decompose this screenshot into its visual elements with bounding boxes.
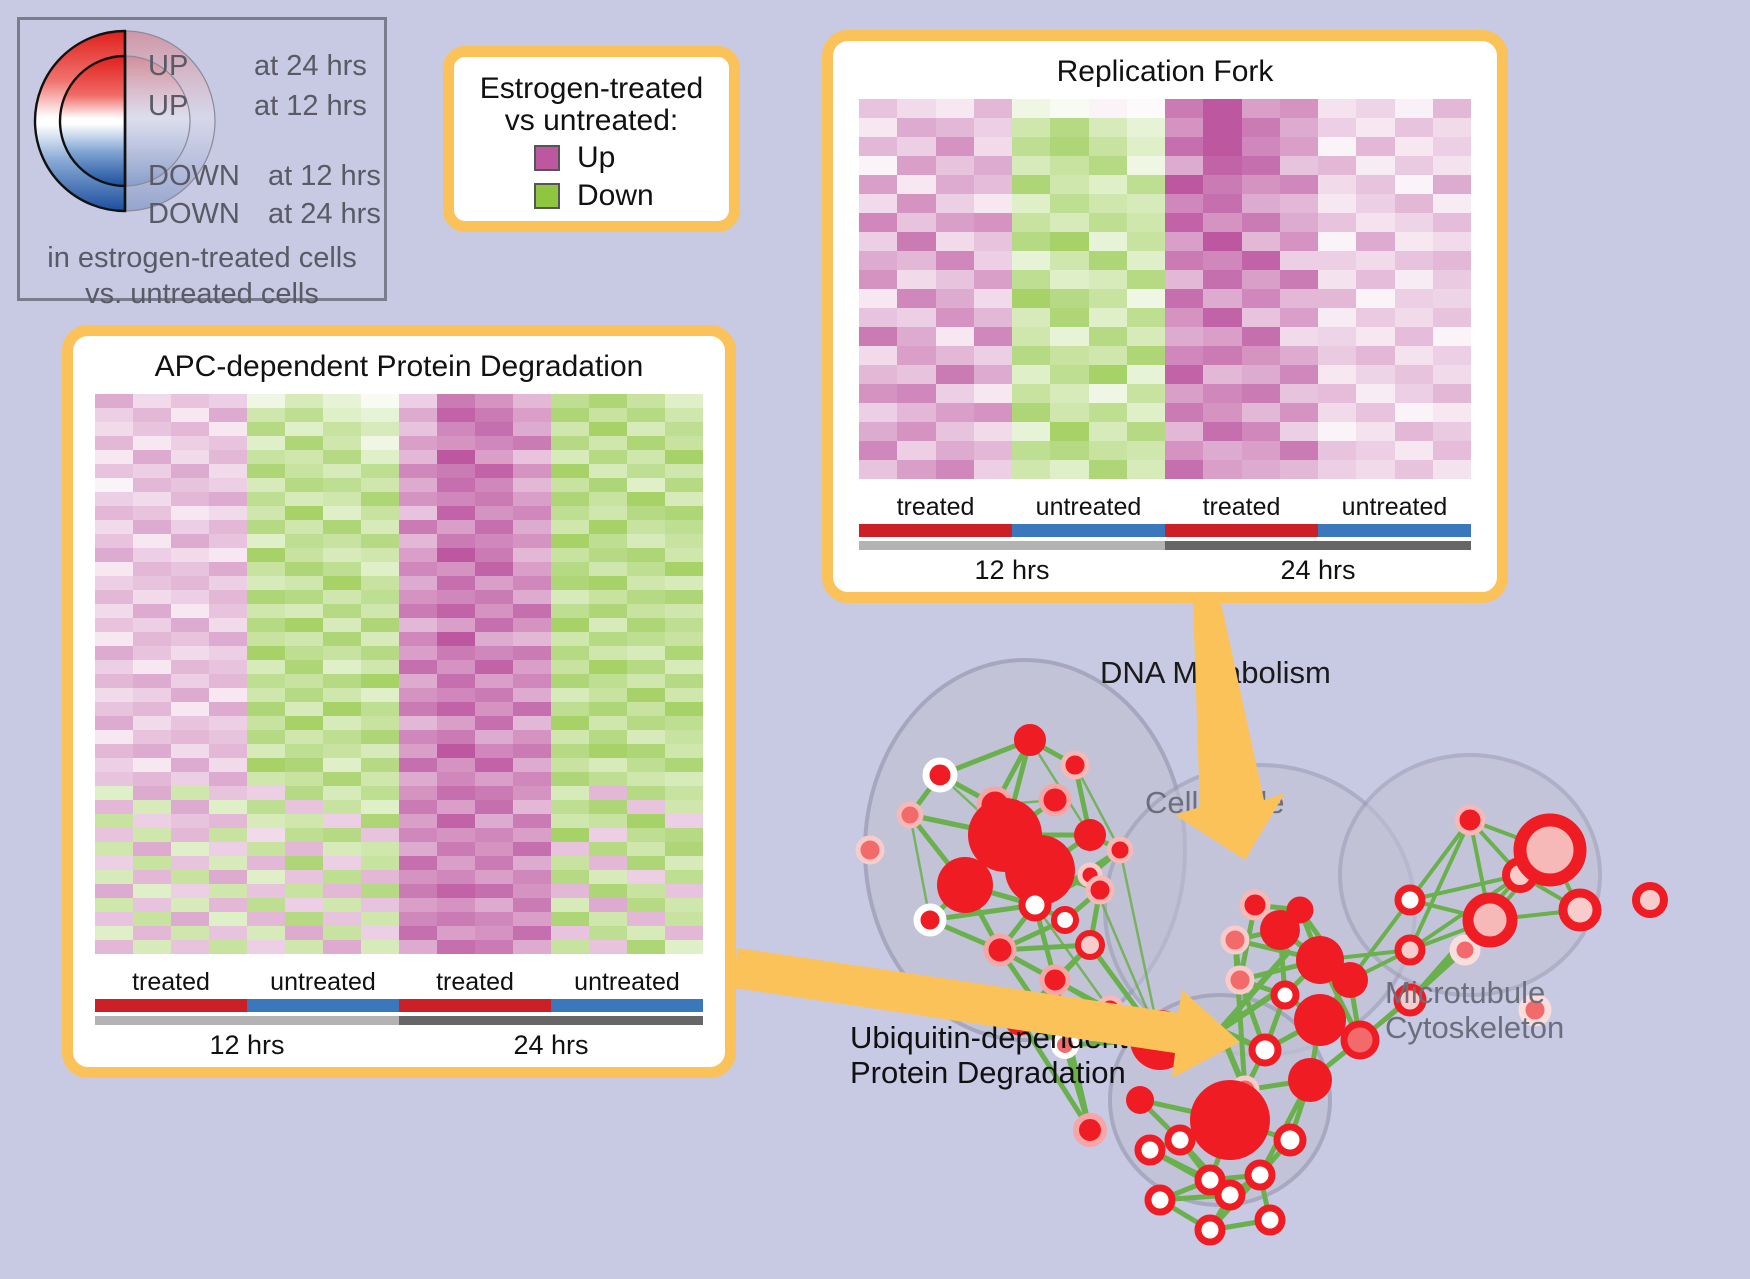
- time-labels-rf: 12 hrs24 hrs: [859, 555, 1471, 586]
- heatmap-cell: [589, 716, 627, 730]
- heatmap-cell: [399, 534, 437, 548]
- heatmap-cell: [133, 828, 171, 842]
- heatmap-cell: [936, 441, 974, 460]
- heatmap-cell: [209, 478, 247, 492]
- heatmap-cell: [247, 758, 285, 772]
- heatmap-cell: [399, 450, 437, 464]
- heatmap-cell: [285, 898, 323, 912]
- heatmap-cell: [285, 576, 323, 590]
- heatmap-cell: [285, 646, 323, 660]
- heatmap-cell: [1089, 270, 1127, 289]
- heatmap-cell: [399, 688, 437, 702]
- heatmap-cell: [475, 702, 513, 716]
- heatmap-cell: [285, 506, 323, 520]
- expression-key-box: UP at 24 hrs UP at 12 hrs DOWN at 12 hrs…: [17, 17, 387, 301]
- heatmap-cell: [1203, 213, 1241, 232]
- heatmap-cell: [475, 576, 513, 590]
- heatmap-cell: [589, 744, 627, 758]
- heatmap-cell: [1089, 137, 1127, 156]
- heatmap-cell: [437, 632, 475, 646]
- heatmap-cell: [589, 492, 627, 506]
- heatmap-cell: [1242, 213, 1280, 232]
- network-node: [1457, 807, 1483, 833]
- heatmap-cell: [1356, 441, 1394, 460]
- heatmap-cell: [437, 842, 475, 856]
- heatmap-cell: [665, 436, 703, 450]
- heatmap-cell: [1012, 422, 1050, 441]
- heatmap-cell: [1165, 403, 1203, 422]
- heatmap-cell: [171, 520, 209, 534]
- heatmap-cell: [361, 730, 399, 744]
- heatmap-cell: [247, 912, 285, 926]
- treatment-bar-segment: [1318, 524, 1471, 537]
- heatmap-cell: [936, 194, 974, 213]
- heatmap-cell: [1280, 118, 1318, 137]
- heatmap-cell: [974, 270, 1012, 289]
- heatmap-cell: [1242, 460, 1280, 479]
- heatmap-cell: [1318, 213, 1356, 232]
- heatmap-cell: [513, 548, 551, 562]
- heatmap-cell: [133, 422, 171, 436]
- heatmap-cell: [95, 772, 133, 786]
- network-node-hub: [937, 857, 993, 913]
- heatmap-cell: [589, 562, 627, 576]
- heatmap-cell: [551, 730, 589, 744]
- heatmap-cell: [513, 408, 551, 422]
- heatmap-cell: [361, 394, 399, 408]
- heatmap-cell: [437, 716, 475, 730]
- heatmap-cell: [475, 926, 513, 940]
- heatmap-cell: [589, 408, 627, 422]
- heatmap-cell: [1395, 327, 1433, 346]
- heatmap-cell: [1280, 156, 1318, 175]
- heatmap-cell: [513, 758, 551, 772]
- heatmap-cell: [551, 548, 589, 562]
- heatmap-cell: [361, 898, 399, 912]
- heatmap-cell: [323, 674, 361, 688]
- heatmap-cell: [323, 646, 361, 660]
- heatmap-cell: [209, 632, 247, 646]
- heatmap-cell: [1395, 175, 1433, 194]
- heatmap-cell: [323, 436, 361, 450]
- heatmap-cell: [1089, 384, 1127, 403]
- heatmap-cell: [475, 646, 513, 660]
- heatmap-cell: [1050, 118, 1088, 137]
- heatmap-cell: [95, 814, 133, 828]
- heatmap-cell: [361, 800, 399, 814]
- heatmap-cell: [399, 618, 437, 632]
- heatmap-cell: [247, 548, 285, 562]
- heatmap-cell: [475, 660, 513, 674]
- heatmap-cell: [627, 562, 665, 576]
- heatmap-cell: [209, 506, 247, 520]
- heatmap-cell: [1089, 346, 1127, 365]
- heatmap-cell: [627, 534, 665, 548]
- heatmap-cell: [589, 730, 627, 744]
- time-colorbar-rf: [859, 541, 1471, 550]
- heatmap-cell: [1242, 232, 1280, 251]
- heatmap-cell: [285, 548, 323, 562]
- heatmap-cell: [627, 492, 665, 506]
- heatmap-cell: [1127, 384, 1165, 403]
- heatmap-cell: [1395, 137, 1433, 156]
- heatmap-cell: [437, 898, 475, 912]
- heatmap-cell: [1165, 156, 1203, 175]
- heatmap-cell: [1395, 194, 1433, 213]
- heatmap-cell: [1050, 403, 1088, 422]
- heatmap-cell: [437, 772, 475, 786]
- heatmap-cell: [1012, 403, 1050, 422]
- heatmap-cell: [437, 422, 475, 436]
- heatmap-cell: [1012, 194, 1050, 213]
- heatmap-cell: [475, 590, 513, 604]
- heatmap-cell: [551, 478, 589, 492]
- heatmap-cell: [247, 884, 285, 898]
- heatmap-cell: [551, 422, 589, 436]
- heatmap-cell: [513, 912, 551, 926]
- heatmap-cell: [133, 520, 171, 534]
- heatmap-cell: [361, 814, 399, 828]
- heatmap-cell: [589, 436, 627, 450]
- heatmap-cell: [627, 898, 665, 912]
- heatmap-cell: [1165, 118, 1203, 137]
- heatmap-cell: [589, 912, 627, 926]
- heatmap-cell: [285, 730, 323, 744]
- heatmap-cell: [1395, 403, 1433, 422]
- heatmap-cell: [323, 632, 361, 646]
- heatmap-cell: [171, 842, 209, 856]
- heatmap-cell: [1395, 460, 1433, 479]
- heatmap-cell: [475, 856, 513, 870]
- heatmap-cell: [95, 856, 133, 870]
- heatmap-cell: [513, 632, 551, 646]
- heatmap-cell: [665, 492, 703, 506]
- treatment-bar-segment: [95, 999, 247, 1012]
- heatmap-cell: [513, 716, 551, 730]
- heatmap-cell: [95, 870, 133, 884]
- heatmap-cell: [551, 576, 589, 590]
- heatmap-cell: [323, 520, 361, 534]
- heatmap-cell: [1203, 422, 1241, 441]
- heatmap-cell: [247, 870, 285, 884]
- heatmap-cell: [551, 870, 589, 884]
- heatmap-cell: [171, 800, 209, 814]
- heatmap-cell: [247, 800, 285, 814]
- heatmap-cell: [399, 506, 437, 520]
- heatmap-cell: [247, 646, 285, 660]
- heatmap-cell: [171, 884, 209, 898]
- heatmap-cell: [513, 730, 551, 744]
- heatmap-cell: [1318, 403, 1356, 422]
- heatmap-cell: [1165, 213, 1203, 232]
- treatment-bar-segment: [1012, 524, 1165, 537]
- heatmap-cell: [589, 394, 627, 408]
- heatmap-cell: [133, 604, 171, 618]
- heatmap-cell: [513, 646, 551, 660]
- heatmap-cell: [95, 730, 133, 744]
- heatmap-cell: [475, 842, 513, 856]
- heatmap-cell: [399, 394, 437, 408]
- heatmap-cell: [361, 716, 399, 730]
- network-node-hub: [1130, 1010, 1190, 1070]
- heatmap-cell: [95, 842, 133, 856]
- heatmap-cell: [361, 506, 399, 520]
- heatmap-cell: [437, 548, 475, 562]
- heatmap-cell: [247, 744, 285, 758]
- heatmap-cell: [1165, 175, 1203, 194]
- heatmap-cell: [513, 800, 551, 814]
- heatmap-cell: [1012, 365, 1050, 384]
- heatmap-cell: [361, 464, 399, 478]
- key-time-0: at 24 hrs: [254, 50, 367, 83]
- heatmap-cell: [589, 800, 627, 814]
- heatmap-cell: [1280, 308, 1318, 327]
- heatmap-cell: [475, 786, 513, 800]
- heatmap-cell: [1089, 327, 1127, 346]
- pathway-network-diagram: DNA Metabolism Cell Cycle Microtubule Cy…: [790, 620, 1750, 1279]
- heatmap-cell: [361, 674, 399, 688]
- network-node: [1248, 1163, 1272, 1187]
- heatmap-cell: [171, 632, 209, 646]
- heatmap-cell: [437, 730, 475, 744]
- heatmap-cell: [475, 562, 513, 576]
- heatmap-cell: [475, 716, 513, 730]
- network-node: [1252, 1037, 1278, 1063]
- heatmap-cell: [1280, 137, 1318, 156]
- heatmap-cell: [133, 562, 171, 576]
- heatmap-cell: [399, 940, 437, 954]
- heatmap-cell: [1165, 327, 1203, 346]
- heatmap-cell: [323, 408, 361, 422]
- heatmap-cell: [551, 744, 589, 758]
- heatmap-cell: [399, 646, 437, 660]
- heatmap-cell: [1165, 194, 1203, 213]
- heatmap-cell: [171, 618, 209, 632]
- heatmap-cell: [627, 716, 665, 730]
- heatmap-cell: [361, 422, 399, 436]
- heatmap-cell: [285, 618, 323, 632]
- heatmap-cell: [627, 464, 665, 478]
- heatmap-cell: [859, 137, 897, 156]
- time-label: 24 hrs: [1165, 555, 1471, 586]
- heatmap-cell: [1165, 422, 1203, 441]
- heatmap-cell: [209, 534, 247, 548]
- heatmap-cell: [133, 688, 171, 702]
- heatmap-cell: [361, 562, 399, 576]
- heatmap-cell: [399, 786, 437, 800]
- group-label: treated: [1165, 493, 1318, 522]
- network-node: [1041, 786, 1069, 814]
- heatmap-cell: [897, 118, 935, 137]
- heatmap-cell: [1433, 289, 1471, 308]
- heatmap-cell: [323, 800, 361, 814]
- heatmap-cell: [665, 534, 703, 548]
- heatmap-cell: [399, 478, 437, 492]
- heatmap-cell: [513, 842, 551, 856]
- heatmap-cell: [285, 842, 323, 856]
- heatmap-cell: [171, 646, 209, 660]
- heatmap-cell: [1395, 118, 1433, 137]
- heatmap-cell: [361, 912, 399, 926]
- heatmap-cell: [475, 534, 513, 548]
- heatmap-cell: [665, 716, 703, 730]
- heatmap-cell: [1165, 232, 1203, 251]
- heatmap-cell: [133, 646, 171, 660]
- heatmap-cell: [95, 562, 133, 576]
- heatmap-cell: [859, 308, 897, 327]
- heatmap-cell: [551, 926, 589, 940]
- heatmap-cell: [475, 912, 513, 926]
- heatmap-cell: [1127, 441, 1165, 460]
- heatmap-cell: [399, 772, 437, 786]
- heatmap-cell: [247, 898, 285, 912]
- heatmap-cell: [589, 940, 627, 954]
- heatmap-cell: [513, 394, 551, 408]
- heatmap-cell: [285, 884, 323, 898]
- heatmap-cell: [437, 884, 475, 898]
- heatmap-cell: [551, 436, 589, 450]
- heatmap-cell: [1318, 232, 1356, 251]
- heatmap-cell: [936, 99, 974, 118]
- heatmap-cell: [399, 562, 437, 576]
- heatmap-cell: [209, 856, 247, 870]
- heatmap-cell: [209, 548, 247, 562]
- heatmap-cell: [627, 772, 665, 786]
- heatmap-cell: [361, 604, 399, 618]
- heatmap-cell: [936, 422, 974, 441]
- heatmap-cell: [1050, 365, 1088, 384]
- heatmap-cell: [475, 604, 513, 618]
- heatmap-cell: [1012, 289, 1050, 308]
- heatmap-cell: [285, 660, 323, 674]
- heatmap-cell: [859, 99, 897, 118]
- heatmap-cell: [475, 464, 513, 478]
- heatmap-cell: [133, 744, 171, 758]
- heatmap-cell: [859, 460, 897, 479]
- heatmap-cell: [171, 660, 209, 674]
- heatmap-cell: [323, 786, 361, 800]
- heatmap-cell: [323, 814, 361, 828]
- heatmap-cell: [974, 365, 1012, 384]
- heatmap-cell: [1433, 403, 1471, 422]
- heatmap-cell: [1203, 194, 1241, 213]
- heatmap-cell: [627, 800, 665, 814]
- network-node: [1088, 878, 1112, 902]
- heatmap-cell: [1356, 460, 1394, 479]
- heatmap-cell: [361, 660, 399, 674]
- heatmap-cell: [589, 618, 627, 632]
- heatmap-cell: [859, 270, 897, 289]
- network-node: [1563, 893, 1597, 927]
- heatmap-cell: [437, 828, 475, 842]
- heatmap-cell: [1127, 251, 1165, 270]
- heatmap-cell: [247, 534, 285, 548]
- heatmap-cell: [323, 940, 361, 954]
- heatmap-cell: [133, 786, 171, 800]
- heatmap-cell: [247, 856, 285, 870]
- heatmap-cell: [627, 828, 665, 842]
- heatmap-cell: [399, 716, 437, 730]
- heatmap-cell: [209, 870, 247, 884]
- heatmap-cell: [399, 492, 437, 506]
- network-node: [1022, 892, 1048, 918]
- heatmap-cell: [936, 460, 974, 479]
- heatmap-cell: [1280, 289, 1318, 308]
- legend-item-up: Up: [534, 141, 729, 175]
- heatmap-cell: [589, 828, 627, 842]
- heatmap-cell: [1012, 175, 1050, 194]
- heatmap-cell: [1203, 251, 1241, 270]
- network-node: [1074, 819, 1106, 851]
- heatmap-cell: [209, 394, 247, 408]
- heatmap-cell: [551, 842, 589, 856]
- heatmap-cell: [1050, 213, 1088, 232]
- heatmap-cell: [475, 898, 513, 912]
- key-time-1: at 12 hrs: [254, 90, 367, 123]
- heatmap-cell: [589, 478, 627, 492]
- heatmap-cell: [95, 520, 133, 534]
- heatmap-cell: [133, 912, 171, 926]
- heatmap-cell: [437, 940, 475, 954]
- heatmap-cell: [627, 786, 665, 800]
- heatmap-cell: [1280, 194, 1318, 213]
- heatmap-cell: [665, 632, 703, 646]
- heatmap-cell: [1395, 289, 1433, 308]
- heatmap-cell: [247, 604, 285, 618]
- heatmap-cell: [1318, 289, 1356, 308]
- heatmap-cell: [399, 870, 437, 884]
- heatmap-cell: [95, 674, 133, 688]
- heatmap-cell: [209, 814, 247, 828]
- heatmap-cell: [437, 408, 475, 422]
- treatment-bar-segment: [551, 999, 703, 1012]
- time-bar-segment: [399, 1016, 703, 1025]
- heatmap-cell: [589, 576, 627, 590]
- heatmap-cell: [323, 884, 361, 898]
- heatmap-cell: [665, 786, 703, 800]
- heatmap-cell: [133, 464, 171, 478]
- heatmap-cell: [936, 327, 974, 346]
- heatmap-cell: [285, 562, 323, 576]
- heatmap-cell: [95, 884, 133, 898]
- heatmap-cell: [1280, 232, 1318, 251]
- heatmap-cell: [897, 365, 935, 384]
- heatmap-cell: [1280, 403, 1318, 422]
- heatmap-cell: [133, 632, 171, 646]
- network-node: [926, 761, 954, 789]
- heatmap-cell: [513, 590, 551, 604]
- heatmap-cell: [361, 870, 399, 884]
- heatmap-cell: [936, 213, 974, 232]
- heatmap-cell: [551, 688, 589, 702]
- heatmap-cell: [1242, 251, 1280, 270]
- network-node: [1042, 967, 1068, 993]
- heatmap-cell: [285, 926, 323, 940]
- heatmap-cell: [1127, 194, 1165, 213]
- heatmap-cell: [399, 926, 437, 940]
- heatmap-cell: [859, 156, 897, 175]
- heatmap-cell: [399, 800, 437, 814]
- heatmap-cell: [399, 576, 437, 590]
- heatmap-cell: [1318, 194, 1356, 213]
- heatmap-cell: [285, 940, 323, 954]
- heatmap-cell: [399, 590, 437, 604]
- heatmap-cell: [1127, 118, 1165, 137]
- heatmap-cell: [171, 870, 209, 884]
- heatmap-cell: [95, 660, 133, 674]
- heatmap-cell: [361, 758, 399, 772]
- network-node: [1344, 1024, 1376, 1056]
